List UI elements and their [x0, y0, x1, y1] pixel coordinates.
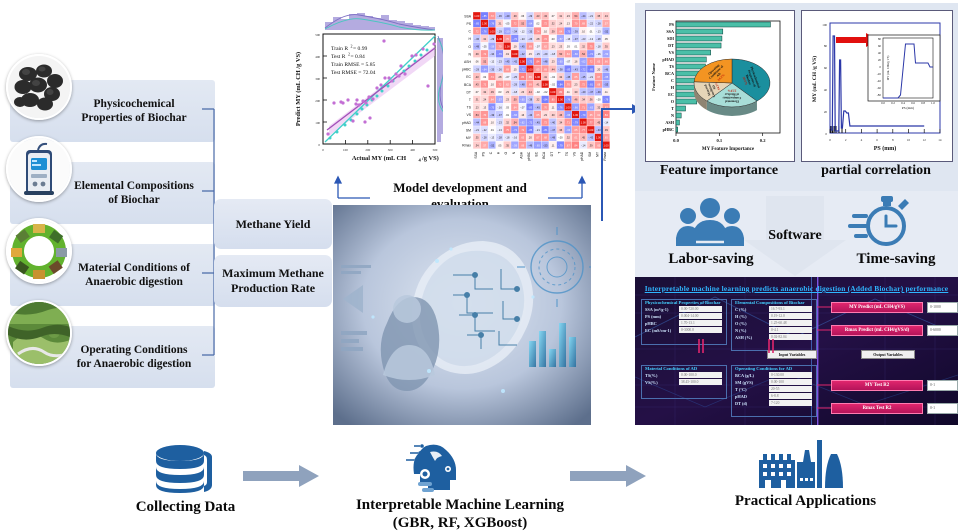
- svg-text:.03: .03: [566, 45, 570, 49]
- input-feature-label-line2: of Biochar: [108, 194, 159, 206]
- svg-text:40: 40: [878, 51, 882, 55]
- output-button-rmax-test-r2[interactable]: Rmax Test R2: [831, 403, 923, 414]
- svg-text:-.28: -.28: [497, 136, 502, 140]
- svg-text:1.00: 1.00: [573, 113, 579, 117]
- svg-text:-.16: -.16: [596, 52, 601, 56]
- svg-text:.13: .13: [566, 22, 570, 26]
- svg-text:PS: PS: [481, 151, 485, 156]
- svg-text:-.13: -.13: [497, 128, 502, 132]
- svg-text:.70: .70: [498, 45, 502, 49]
- field-label: TS(%): [645, 373, 679, 378]
- biomass-feedstock-ring-photo: [6, 218, 72, 284]
- svg-text:-.23: -.23: [497, 121, 502, 125]
- svg-text:.84: .84: [536, 60, 540, 64]
- output-button-my-test-r2[interactable]: MY Test R2: [831, 380, 923, 391]
- svg-text:-.66: -.66: [513, 113, 518, 117]
- target-label-line2: Production Rate: [231, 281, 315, 295]
- svg-text:.23: .23: [566, 14, 570, 18]
- svg-text:TS: TS: [565, 151, 569, 156]
- svg-text:-.34: -.34: [490, 52, 495, 56]
- svg-text:0.6: 0.6: [911, 101, 915, 105]
- svg-text:DT: DT: [668, 43, 674, 48]
- svg-text:1.00: 1.00: [497, 37, 503, 41]
- svg-text:.72: .72: [589, 60, 593, 64]
- svg-text:.64: .64: [559, 29, 563, 33]
- svg-text:.57: .57: [483, 143, 487, 147]
- svg-text:.01: .01: [589, 29, 593, 33]
- svg-text:VS: VS: [669, 50, 675, 55]
- svg-text:20: 20: [824, 110, 828, 114]
- svg-text:.77: .77: [581, 128, 585, 132]
- svg-text:SM: SM: [588, 152, 592, 157]
- svg-text:-.37: -.37: [573, 37, 578, 41]
- svg-text:400: 400: [315, 55, 320, 59]
- svg-text:.16: .16: [521, 113, 525, 117]
- svg-text:Rmax: Rmax: [462, 144, 471, 148]
- svg-text:-.53: -.53: [604, 83, 609, 87]
- svg-text:-.40: -.40: [581, 90, 586, 94]
- svg-text:-.84: -.84: [543, 98, 548, 102]
- svg-text:Feature Name: Feature Name: [651, 63, 656, 91]
- svg-text:.23: .23: [521, 90, 525, 94]
- output-variables-tag: Output Variables: [861, 350, 915, 359]
- parity-ylabel: Predict MY (mL CH /g VS): [295, 52, 302, 126]
- svg-text:-.40: -.40: [551, 121, 556, 125]
- labor-saving-icon: [672, 196, 748, 253]
- field-value[interactable]: 1.70-13.1: [679, 320, 722, 326]
- svg-text:1.00: 1.00: [520, 60, 526, 64]
- svg-text:.43: .43: [536, 14, 540, 18]
- ai-head-icon: [400, 440, 462, 501]
- svg-text:.43: .43: [475, 75, 479, 79]
- svg-text:Train R: Train R: [331, 46, 348, 52]
- svg-text:14: 14: [938, 138, 942, 142]
- output-range-rmax-predict[interactable]: 0-6000: [927, 325, 958, 336]
- svg-text:.24: .24: [559, 22, 563, 26]
- workflow-label-practical-applications: Practical Applications: [718, 492, 893, 510]
- svg-text:-.72: -.72: [528, 121, 533, 125]
- workflow-ml-line2: (GBR, RF, XGBoost): [393, 515, 527, 531]
- correlation-matrix-figure: 1.00-.85.72-.36-.49.39.06-.29.43.43.07.3…: [443, 6, 613, 184]
- svg-text:.23: .23: [543, 113, 547, 117]
- svg-text:.71: .71: [566, 121, 570, 125]
- svg-text:1.0: 1.0: [931, 101, 935, 105]
- output-button-my-predict[interactable]: MY Predict (mL CH4/gVS): [831, 302, 923, 313]
- svg-text:TS: TS: [669, 64, 675, 69]
- svg-text:C: C: [489, 151, 493, 154]
- partial-correlation-figure: 02040 6080100 024 6810 1214 PS (mm) MY (…: [801, 10, 953, 162]
- svg-text:.41: .41: [536, 83, 540, 87]
- svg-text:.43: .43: [543, 14, 547, 18]
- time-saving-icon: [848, 194, 910, 255]
- svg-text:.06: .06: [475, 60, 479, 64]
- software-group-operating[interactable]: Operating Conditions for AD BCA (g/L)0-1…: [731, 365, 817, 417]
- svg-text:100: 100: [343, 148, 348, 152]
- svg-text:EC: EC: [535, 151, 539, 156]
- svg-text:-.66: -.66: [573, 105, 578, 109]
- svg-text:-.26: -.26: [528, 37, 533, 41]
- input-feature-label-line2: for Anaerobic digestion: [77, 358, 192, 370]
- svg-text:.10: .10: [581, 29, 585, 33]
- svg-text:.23: .23: [551, 60, 555, 64]
- svg-text:80: 80: [824, 44, 828, 48]
- svg-text:.46: .46: [559, 113, 563, 117]
- svg-text:.75: .75: [589, 45, 593, 49]
- svg-text:-.76: -.76: [513, 37, 518, 41]
- software-window[interactable]: Interpretable machine learning predicts …: [635, 277, 958, 425]
- svg-text:-.75: -.75: [566, 29, 571, 33]
- svg-text:.57: .57: [604, 22, 608, 26]
- field-label: C (%): [735, 307, 769, 312]
- svg-text:.41: .41: [543, 75, 547, 79]
- svg-text:.65: .65: [528, 75, 532, 79]
- svg-text:-.57: -.57: [497, 98, 502, 102]
- svg-text:PS (mm): PS (mm): [902, 106, 914, 110]
- pdp-ylabel: MY (mL CH /g VS): [811, 56, 818, 102]
- svg-text:.50: .50: [513, 98, 517, 102]
- svg-text:.69: .69: [581, 22, 585, 26]
- svg-text:T: T: [671, 106, 674, 111]
- svg-text:TS: TS: [467, 106, 472, 110]
- field-value[interactable]: 0-130.00: [769, 372, 812, 378]
- field-label: DT (d): [735, 401, 769, 406]
- svg-text:N: N: [512, 151, 516, 154]
- target-label-line1: Maximum Methane: [222, 266, 324, 280]
- target-card-max-rate[interactable]: Maximum MethaneProduction Rate: [214, 255, 332, 307]
- svg-text:-.12: -.12: [490, 60, 495, 64]
- svg-text:.20: .20: [528, 136, 532, 140]
- svg-text:-.66: -.66: [573, 52, 578, 56]
- svg-text:-.52: -.52: [490, 143, 495, 147]
- svg-text:.23: .23: [505, 90, 509, 94]
- svg-text:-.02: -.02: [551, 75, 556, 79]
- svg-text:.65: .65: [589, 113, 593, 117]
- svg-text:.11: .11: [551, 105, 555, 109]
- svg-text:-.25: -.25: [513, 75, 518, 79]
- svg-text:1.00: 1.00: [543, 83, 549, 87]
- svg-text:.32: .32: [566, 136, 570, 140]
- output-range-rmax-test-r2[interactable]: 0-1: [927, 403, 958, 414]
- field-value[interactable]: 7-120: [769, 400, 812, 406]
- svg-text:-.45: -.45: [566, 75, 571, 79]
- input-feature-label-line2: Properties of Biochar: [81, 112, 186, 124]
- svg-text:-.64: -.64: [528, 22, 533, 26]
- svg-text:.31: .31: [483, 37, 487, 41]
- svg-text:.39: .39: [551, 29, 555, 33]
- field-value[interactable]: 16.7-93.1: [769, 306, 812, 312]
- svg-text:.34: .34: [559, 121, 563, 125]
- svg-text:.52: .52: [521, 22, 525, 26]
- svg-text:-.07: -.07: [520, 105, 525, 109]
- svg-text:.84: .84: [574, 143, 578, 147]
- svg-text:-.45: -.45: [581, 75, 586, 79]
- svg-text:-.76: -.76: [497, 52, 502, 56]
- svg-text:MY: MY: [466, 136, 472, 140]
- svg-text:-40: -40: [877, 79, 882, 83]
- svg-text:MY (mL CH4/g VS): MY (mL CH4/g VS): [886, 56, 890, 81]
- svg-text:100: 100: [822, 23, 827, 27]
- svg-text:= 0.99: = 0.99: [353, 46, 368, 52]
- svg-text:500: 500: [315, 33, 320, 37]
- svg-text:1.00: 1.00: [535, 75, 541, 79]
- svg-text:.44: .44: [528, 90, 532, 94]
- input-feature-label-line1: Elemental Compositions: [74, 180, 194, 192]
- svg-text:.03: .03: [551, 37, 555, 41]
- parity-plot-figure: 0100200 300400500 0100200 300400500 Actu…: [285, 8, 455, 180]
- svg-text:.32: .32: [483, 90, 487, 94]
- svg-text:-.45: -.45: [535, 121, 540, 125]
- svg-text:-.60: -.60: [520, 98, 525, 102]
- svg-text:60: 60: [824, 66, 828, 70]
- svg-text:1.00: 1.00: [482, 22, 488, 26]
- svg-text:400: 400: [410, 148, 415, 152]
- svg-text:-.85: -.85: [475, 22, 480, 26]
- svg-text:0.0: 0.0: [673, 138, 679, 143]
- svg-text:.13: .13: [483, 105, 487, 109]
- svg-text:PS: PS: [466, 22, 471, 26]
- svg-text:SSA: SSA: [464, 14, 472, 18]
- svg-text:.10: .10: [490, 83, 494, 87]
- svg-text:-.16: -.16: [566, 37, 571, 41]
- svg-text:-.02: -.02: [543, 90, 548, 94]
- svg-text:.34: .34: [475, 143, 479, 147]
- partial-correlation-label: partial correlation: [801, 163, 951, 180]
- svg-text:.72: .72: [543, 37, 547, 41]
- svg-text:.34: .34: [604, 14, 608, 18]
- svg-text:.35: .35: [505, 143, 509, 147]
- svg-text:.24: .24: [483, 98, 487, 102]
- svg-text:-.16: -.16: [513, 136, 518, 140]
- output-range-my-test-r2[interactable]: 0-1: [927, 380, 958, 391]
- svg-text:-.62: -.62: [520, 121, 525, 125]
- svg-text:.70: .70: [574, 22, 578, 26]
- svg-text:.69: .69: [483, 121, 487, 125]
- svg-text:-.39: -.39: [573, 29, 578, 33]
- svg-text:-.12: -.12: [520, 29, 525, 33]
- svg-text:.77: .77: [589, 121, 593, 125]
- svg-text:.62: .62: [505, 83, 509, 87]
- svg-text:-.45: -.45: [520, 45, 525, 49]
- svg-text:.52: .52: [483, 60, 487, 64]
- svg-text:-.28: -.28: [482, 136, 487, 140]
- svg-text:ASH: ASH: [665, 120, 674, 125]
- svg-text:.69: .69: [528, 45, 532, 49]
- field-value[interactable]: 0.004-14.00: [679, 313, 722, 319]
- svg-text:1.00: 1.00: [489, 29, 495, 33]
- svg-text:.32: .32: [559, 75, 563, 79]
- svg-text:.15: .15: [513, 67, 517, 71]
- software-group-material[interactable]: Material Conditions of AD TS(%)0.00-100.…: [641, 365, 727, 399]
- pdp-xlabel: PS (mm): [874, 145, 897, 152]
- svg-text:1.00: 1.00: [588, 128, 594, 132]
- svg-text:-.57: -.57: [558, 37, 563, 41]
- svg-text:-.81: -.81: [589, 83, 594, 87]
- svg-text:.16: .16: [574, 60, 578, 64]
- svg-text:-.45: -.45: [535, 105, 540, 109]
- field-label: T (°C): [735, 387, 769, 392]
- svg-text:.74: .74: [490, 75, 494, 79]
- svg-text:.30: .30: [551, 113, 555, 117]
- svg-text:-.43: -.43: [528, 113, 533, 117]
- svg-text:.31: .31: [475, 98, 479, 102]
- svg-text:22.9%: 22.9%: [728, 89, 737, 93]
- svg-text:-.72: -.72: [589, 52, 594, 56]
- svg-text:.23: .23: [574, 83, 578, 87]
- field-value[interactable]: 38.45-100.0: [679, 379, 722, 385]
- svg-text:-.18: -.18: [513, 90, 518, 94]
- svg-text:-.13: -.13: [596, 29, 601, 33]
- svg-text:-.79: -.79: [581, 113, 586, 117]
- svg-text:O: O: [468, 45, 471, 49]
- svg-text:.72: .72: [543, 121, 547, 125]
- field-value[interactable]: 0-3000.0: [679, 327, 722, 333]
- svg-text:-.85: -.85: [589, 67, 594, 71]
- svg-text:80: 80: [878, 37, 882, 41]
- svg-text:-.81: -.81: [543, 128, 548, 132]
- svg-text:-.22: -.22: [482, 128, 487, 132]
- svg-text:.68: .68: [597, 83, 601, 87]
- svg-text:.10: .10: [543, 29, 547, 33]
- svg-text:.75: .75: [505, 128, 509, 132]
- svg-text:-.59: -.59: [490, 45, 495, 49]
- svg-text:.23: .23: [475, 105, 479, 109]
- svg-text:.35: .35: [604, 45, 608, 49]
- output-button-rmax-predict[interactable]: Rmax Predict (mL CH4/gVS/d): [831, 325, 923, 336]
- svg-text:.65: .65: [597, 60, 601, 64]
- input-feature-label-line1: Material Conditions of: [78, 262, 190, 274]
- field-value[interactable]: 0.00-100.0: [679, 372, 722, 378]
- svg-text:.39: .39: [513, 14, 517, 18]
- field-label: SM (gVS): [735, 380, 769, 385]
- svg-text:SDI: SDI: [667, 36, 674, 41]
- field-value[interactable]: 0-4.1: [769, 327, 812, 333]
- svg-text:pHBC: pHBC: [462, 68, 472, 72]
- svg-text:ASH: ASH: [519, 151, 523, 159]
- svg-text:.31: .31: [498, 22, 502, 26]
- svg-text:.23: .23: [551, 45, 555, 49]
- output-range-my-predict[interactable]: 0-1000: [927, 302, 958, 313]
- svg-text:.05: .05: [498, 143, 502, 147]
- svg-text:-.79: -.79: [573, 121, 578, 125]
- svg-text:1.00: 1.00: [550, 90, 556, 94]
- svg-text:-.38: -.38: [558, 67, 563, 71]
- svg-text:.19: .19: [513, 45, 517, 49]
- svg-text:-.13: -.13: [490, 136, 495, 140]
- svg-text:.46: .46: [574, 98, 578, 102]
- field-value[interactable]: 0.00-720.00: [679, 306, 722, 312]
- svg-text:.32: .32: [536, 98, 540, 102]
- svg-text:-.63: -.63: [566, 128, 571, 132]
- svg-text:.69: .69: [505, 67, 509, 71]
- svg-text:0.2: 0.2: [891, 101, 895, 105]
- svg-text:SSA: SSA: [474, 151, 478, 159]
- svg-text:.15: .15: [528, 52, 532, 56]
- svg-text:Test R: Test R: [331, 54, 346, 60]
- svg-text:.32: .32: [505, 121, 509, 125]
- svg-text:-.36: -.36: [497, 14, 502, 18]
- svg-text:1.00: 1.00: [505, 45, 511, 49]
- field-value[interactable]: 20-55: [769, 386, 812, 392]
- svg-text:-.72: -.72: [581, 67, 586, 71]
- target-card-methane-yield[interactable]: Methane Yield: [214, 199, 332, 249]
- svg-text:BCA: BCA: [542, 151, 546, 159]
- svg-text:.02: .02: [483, 75, 487, 79]
- feature-importance-figure: PSSSASDIDTVSpHADTSBCACHECOTNASHpHBC0.00.…: [645, 10, 795, 162]
- svg-text:.01: .01: [574, 45, 578, 49]
- field-value[interactable]: 0.00-100: [769, 379, 812, 385]
- svg-text:.39: .39: [475, 52, 479, 56]
- svg-text:-.79: -.79: [558, 143, 563, 147]
- svg-text:-.02: -.02: [535, 90, 540, 94]
- svg-text:-.44: -.44: [581, 14, 586, 18]
- svg-text:.65: .65: [574, 75, 578, 79]
- svg-text:-.05: -.05: [482, 45, 487, 49]
- svg-text:.71: .71: [581, 105, 585, 109]
- svg-text:.69: .69: [528, 83, 532, 87]
- svg-text:1.00: 1.00: [565, 105, 571, 109]
- svg-text:0.2: 0.2: [760, 138, 766, 143]
- svg-text:.01: .01: [490, 128, 494, 132]
- svg-text:.69: .69: [543, 67, 547, 71]
- svg-text:EC: EC: [466, 75, 471, 79]
- parity-xlabel: Actual MY (mL CH: [352, 155, 406, 162]
- svg-text:Test RMSE = 72.04: Test RMSE = 72.04: [331, 70, 376, 76]
- svg-text:.72: .72: [475, 29, 479, 33]
- svg-text:60: 60: [878, 44, 882, 48]
- svg-text:SM: SM: [466, 128, 471, 132]
- svg-text:MY Feature Importance: MY Feature Importance: [702, 147, 755, 152]
- svg-text:.61: .61: [574, 136, 578, 140]
- svg-text:-.35: -.35: [528, 29, 533, 33]
- svg-text:T: T: [557, 152, 561, 154]
- svg-text:-.39: -.39: [490, 113, 495, 117]
- field-value[interactable]: 6-8.8: [769, 393, 812, 399]
- ai-brain-illustration: [333, 205, 591, 425]
- svg-text:-.49: -.49: [551, 136, 556, 140]
- svg-text:.54: .54: [475, 113, 479, 117]
- svg-text:200: 200: [315, 99, 320, 103]
- svg-text:.45: .45: [581, 136, 585, 140]
- svg-text:.11: .11: [566, 90, 570, 94]
- svg-text:.03: .03: [498, 90, 502, 94]
- svg-text:1.00: 1.00: [527, 67, 533, 71]
- svg-text:1.00: 1.00: [558, 98, 564, 102]
- svg-text:.62: .62: [543, 45, 547, 49]
- svg-text:.72: .72: [543, 22, 547, 26]
- svg-text:500: 500: [433, 148, 438, 152]
- svg-text:-.48: -.48: [520, 83, 525, 87]
- svg-text:-.29: -.29: [513, 83, 518, 87]
- field-value[interactable]: 1.25-60.48: [769, 320, 812, 326]
- svg-text:.36: .36: [559, 128, 563, 132]
- svg-text:0: 0: [318, 143, 320, 147]
- svg-text:EC: EC: [668, 92, 674, 97]
- svg-text:.64: .64: [513, 105, 517, 109]
- svg-text:.72: .72: [581, 83, 585, 87]
- svg-text:-.29: -.29: [528, 14, 533, 18]
- svg-text:-.21: -.21: [589, 14, 594, 18]
- svg-text:-.63: -.63: [589, 105, 594, 109]
- svg-text:-.49: -.49: [475, 45, 480, 49]
- svg-text:-.59: -.59: [505, 29, 510, 33]
- svg-text:-.47: -.47: [589, 90, 594, 94]
- svg-text:.74: .74: [536, 29, 540, 33]
- svg-text:-.76: -.76: [490, 22, 495, 26]
- field-value[interactable]: 0.19-12.0: [769, 313, 812, 319]
- field-label: H (%): [735, 314, 769, 319]
- svg-text:-.62: -.62: [581, 60, 586, 64]
- svg-text:-.53: -.53: [543, 143, 548, 147]
